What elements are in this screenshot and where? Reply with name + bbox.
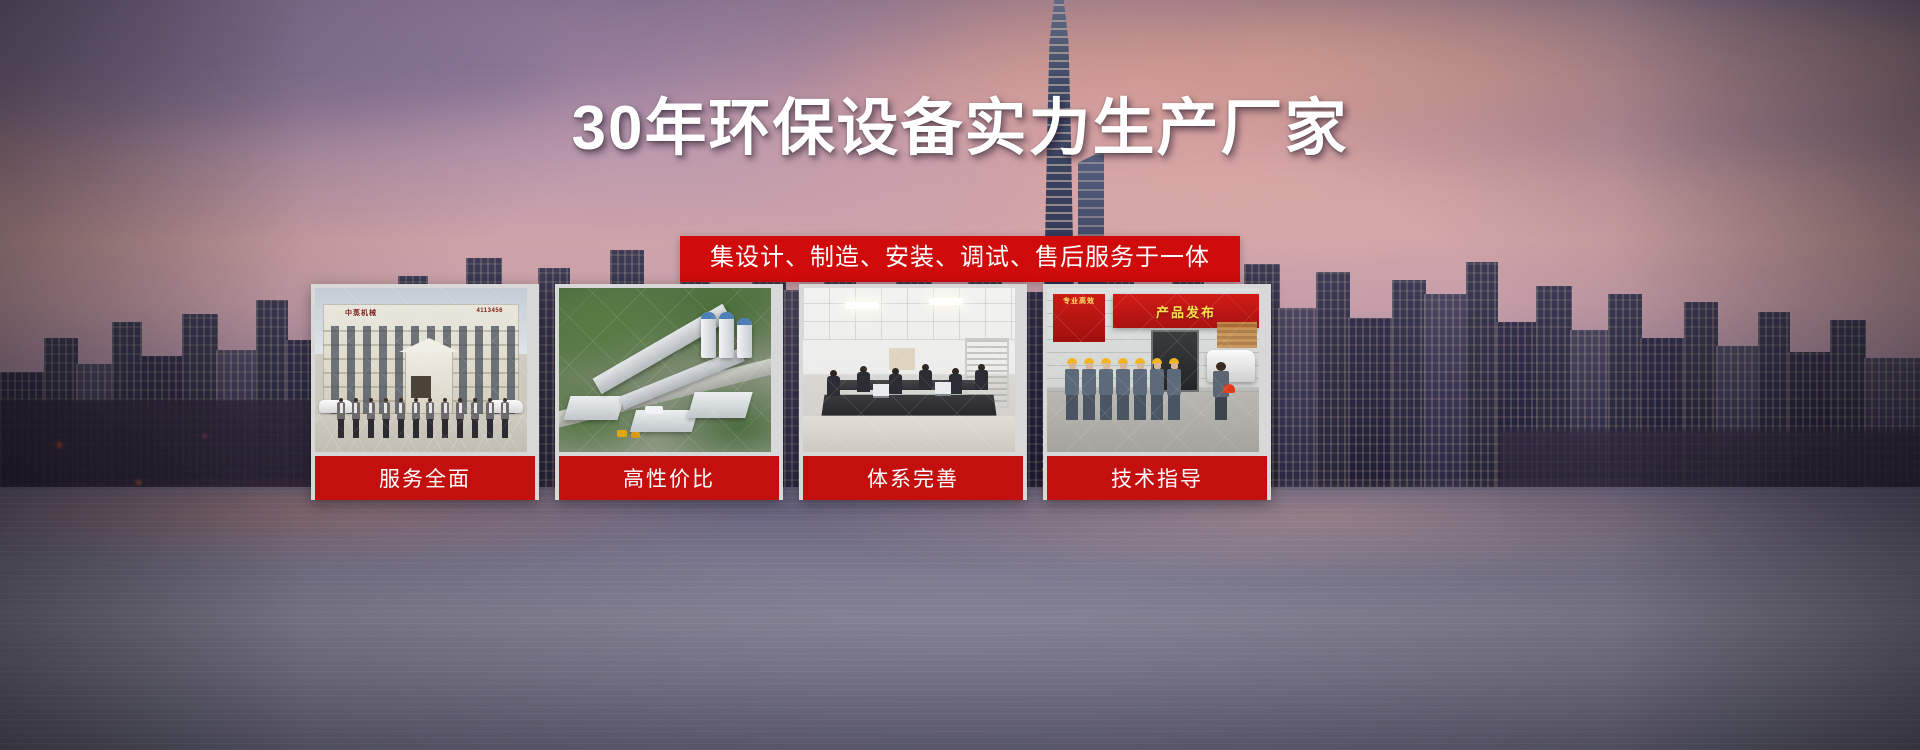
feature-card[interactable]: 高性价比: [555, 284, 783, 500]
feature-card-label: 高性价比: [559, 456, 779, 500]
staff-lineup: [337, 398, 509, 442]
office-building-staff-photo: 中蒸机械 4113456: [315, 288, 527, 452]
feature-card-label: 服务全面: [315, 456, 535, 500]
feature-card-label: 体系完善: [803, 456, 1023, 500]
feature-card[interactable]: 中蒸机械 4113456: [311, 284, 539, 500]
worker-crew: [1065, 358, 1195, 424]
banner-headline: 30年环保设备实力生产厂家: [0, 98, 1920, 160]
banner-subtitle-wrap: 集设计、制造、安装、调试、售后服务于一体: [0, 236, 1920, 282]
feature-card-list: 中蒸机械 4113456: [311, 284, 1271, 500]
feature-card[interactable]: 专业高效 产品发布: [1043, 284, 1271, 500]
aerial-plant-photo: [559, 288, 771, 452]
feature-card-label: 技术指导: [1047, 456, 1267, 500]
building-phone-text: 4113456: [476, 308, 503, 314]
factory-workers-photo: 专业高效 产品发布: [1047, 288, 1259, 452]
feature-card[interactable]: 体系完善: [799, 284, 1027, 500]
banner-content: 30年环保设备实力生产厂家 集设计、制造、安装、调试、售后服务于一体 中蒸机械 …: [0, 0, 1920, 750]
banner-subtitle: 集设计、制造、安装、调试、售后服务于一体: [680, 236, 1240, 282]
office-interior-photo: [803, 288, 1015, 452]
hero-banner: 30年环保设备实力生产厂家 集设计、制造、安装、调试、售后服务于一体 中蒸机械 …: [0, 0, 1920, 750]
building-sign-text: 中蒸机械: [345, 308, 377, 318]
factory-side-banner-text: 专业高效: [1053, 294, 1105, 342]
